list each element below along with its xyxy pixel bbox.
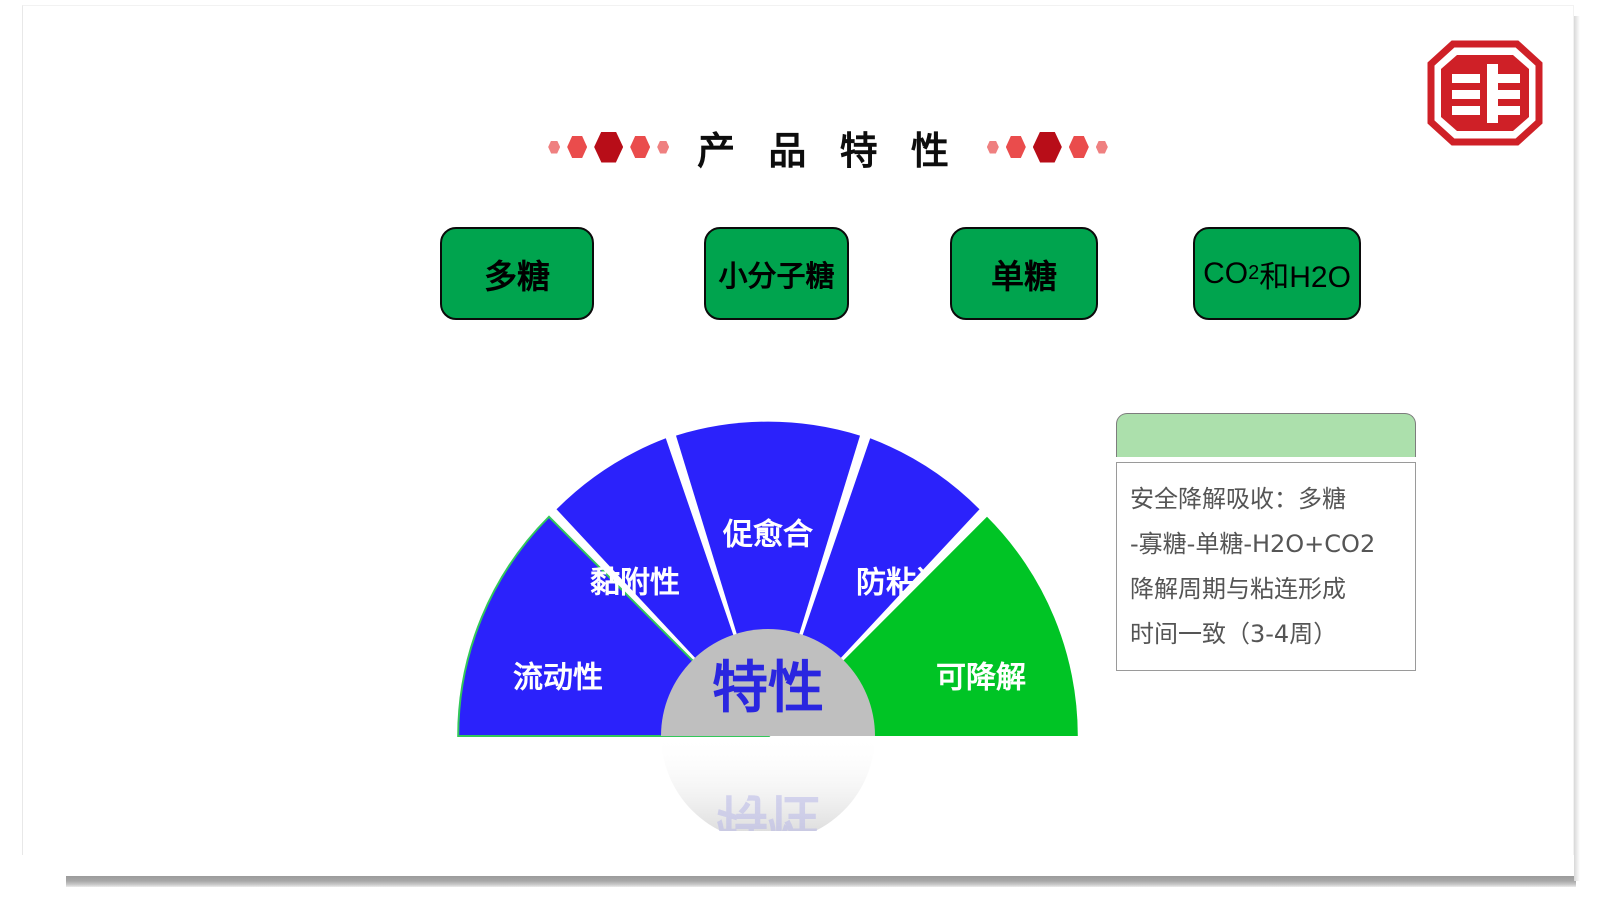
company-logo-icon — [1425, 38, 1545, 148]
callout-header-bar — [1116, 413, 1416, 457]
callout-line: 降解周期与粘连形成 — [1130, 567, 1402, 612]
title-decor-right — [987, 132, 1108, 163]
fan-segment-label: 促愈合 — [722, 518, 813, 553]
process-box-label: 小分子糖 — [718, 253, 834, 295]
slide-canvas: 产 品 特 性 多糖 小分子糖 单糖 CO2和H2O — [22, 5, 1574, 855]
process-box-small-molecule-sugar[interactable]: 小分子糖 — [704, 227, 849, 320]
fan-reflection: 特性 — [661, 735, 875, 831]
hexagon-icon — [1069, 136, 1089, 158]
slide-bottom-shadow — [66, 876, 1576, 887]
hexagon-icon — [548, 141, 560, 154]
callout-line: 安全降解吸收：多糖 — [1130, 477, 1402, 522]
hexagon-icon — [1006, 136, 1026, 158]
slide-right-shadow — [1574, 16, 1580, 881]
hexagon-icon — [594, 132, 623, 163]
hexagon-icon — [657, 141, 669, 154]
callout-line: 时间一致（3-4周） — [1130, 612, 1402, 657]
callout-body: 安全降解吸收：多糖 -寡糖-单糖-H2O+CO2 降解周期与粘连形成 时间一致（… — [1116, 462, 1416, 671]
fan-segment-label: 黏附性 — [590, 566, 680, 601]
fan-hub-label: 特性 — [712, 656, 824, 721]
hexagon-icon — [630, 136, 650, 158]
hexagon-icon — [1033, 132, 1062, 163]
hexagon-icon — [567, 136, 587, 158]
callout-line: -寡糖-单糖-H2O+CO2 — [1130, 522, 1402, 567]
process-box-label-tail: 和H2O — [1259, 252, 1351, 296]
title-decor-left — [548, 132, 669, 163]
process-box-co2-h2o[interactable]: CO2和H2O — [1193, 227, 1361, 320]
fan-segment-label: 流动性 — [513, 661, 603, 696]
svg-text:特性: 特性 — [716, 787, 820, 831]
fan-segment-label: 可降解 — [936, 661, 1026, 696]
process-box-label: 多糖 — [484, 250, 550, 298]
process-box-polysaccharide[interactable]: 多糖 — [440, 227, 594, 320]
process-box-subscript: 2 — [1248, 262, 1259, 285]
process-box-monosaccharide[interactable]: 单糖 — [950, 227, 1098, 320]
characteristics-fan-chart: 特性 流动性 黏附性 促愈合 防粘连 可降解 特性 — [423, 411, 1163, 831]
page-title: 产 品 特 性 — [685, 120, 971, 175]
slide-title-row: 产 品 特 性 — [543, 118, 1113, 176]
process-box-label: CO — [1203, 257, 1248, 291]
callout-panel: 安全降解吸收：多糖 -寡糖-单糖-H2O+CO2 降解周期与粘连形成 时间一致（… — [1116, 413, 1416, 673]
hexagon-icon — [987, 141, 999, 154]
process-box-label: 单糖 — [991, 250, 1057, 298]
hexagon-icon — [1096, 141, 1108, 154]
